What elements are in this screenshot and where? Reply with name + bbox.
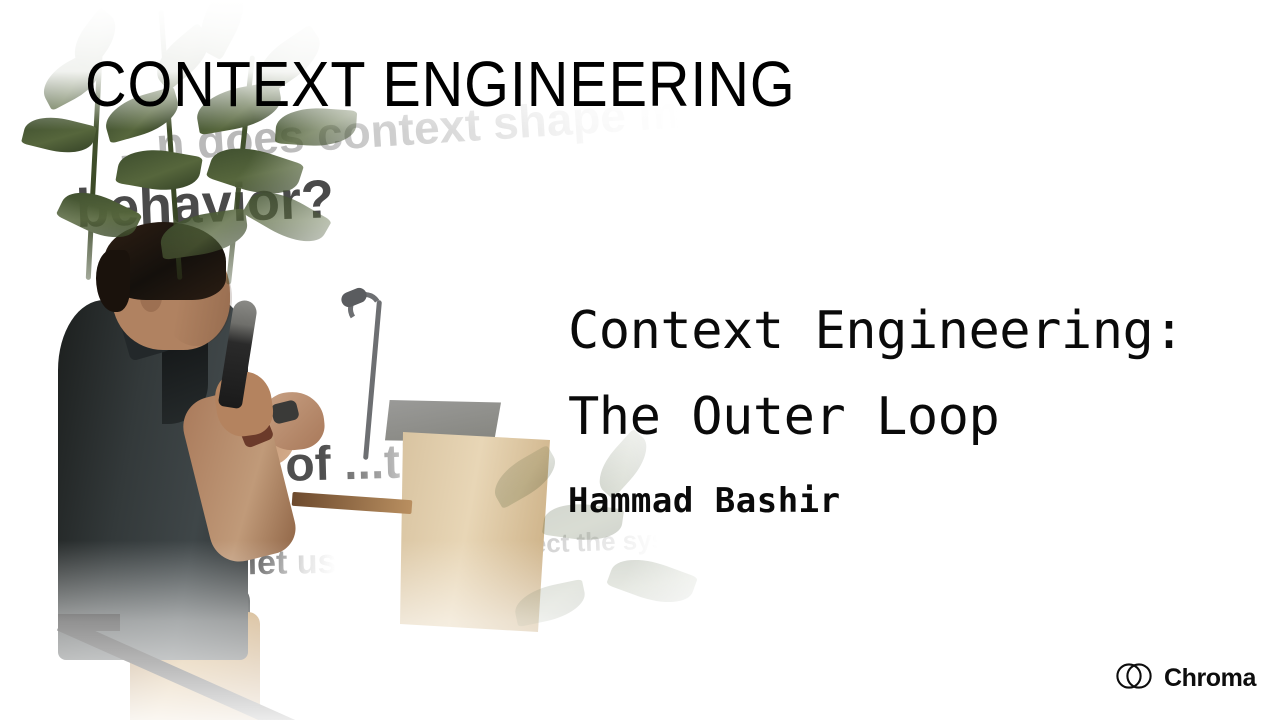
plant-leaf	[511, 579, 588, 627]
slide-kicker: CONTEXT ENGINEERING	[85, 52, 796, 116]
foreground-plant	[0, 0, 390, 290]
slide-title-line-1: Context Engineering:	[568, 288, 1184, 374]
chroma-logo: Chroma	[1115, 662, 1256, 694]
plant-leaf	[606, 549, 698, 613]
two-overlapping-circles-icon	[1115, 662, 1155, 694]
plant-leaf	[115, 143, 203, 197]
plant-leaf	[486, 445, 564, 509]
plant-leaf	[56, 181, 143, 249]
speaker-name: Hammad Bashir	[568, 484, 1184, 518]
title-slide: ...n does context shape m behavior? ark …	[0, 0, 1280, 720]
slide-title-line-2: The Outer Loop	[568, 374, 1184, 460]
title-block: Context Engineering: The Outer Loop Hamm…	[568, 288, 1184, 518]
chroma-wordmark: Chroma	[1164, 664, 1256, 693]
plant-leaf	[158, 208, 251, 260]
